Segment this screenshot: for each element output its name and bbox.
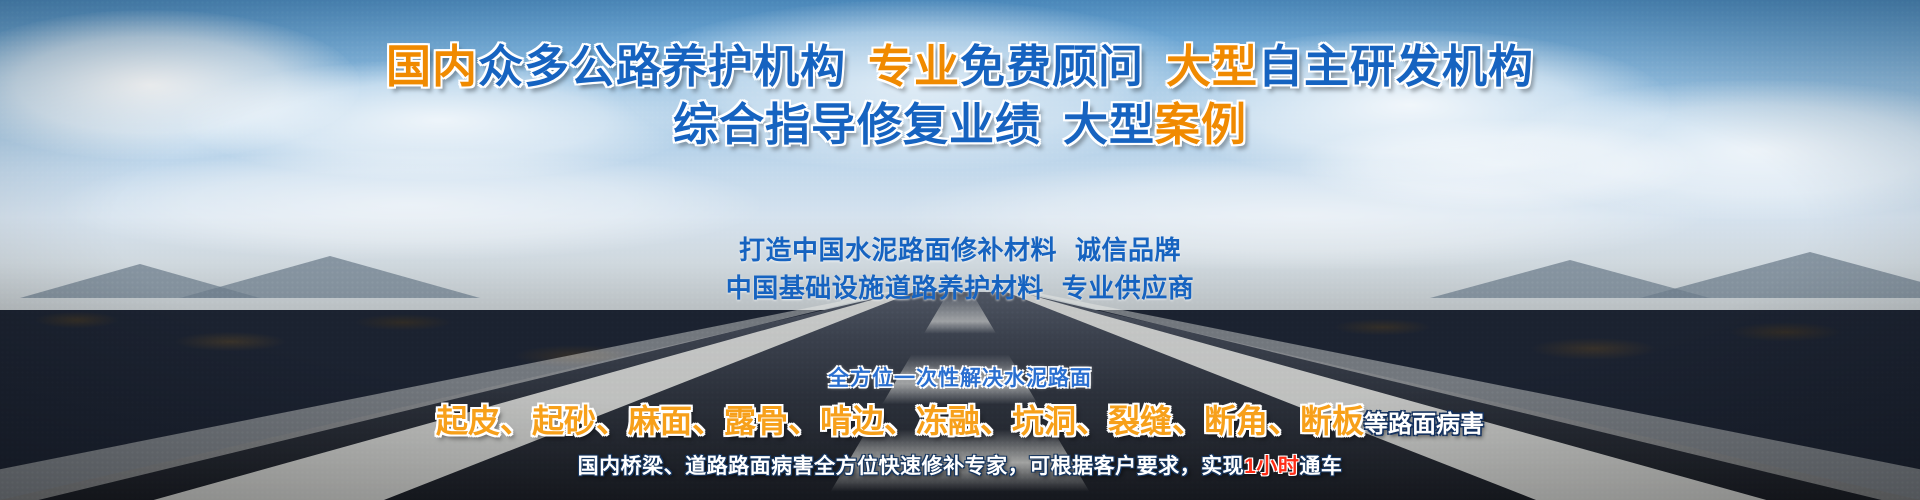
bottom-message-block: 全方位一次性解决水泥路面 起皮、起砂、麻面、露骨、啃边、冻融、坑洞、裂缝、断角、… — [0, 362, 1920, 480]
headline2-segment-daxing: 大型 — [1063, 99, 1155, 150]
headline-line-2: 综合指导修复业绩大型案例 — [0, 102, 1920, 147]
headline1-segment-mianfei: 免费顾问 — [960, 41, 1144, 92]
headline1-segment-zhuanye: 专业 — [868, 41, 960, 92]
subheading2-part-b: 专业供应商 — [1062, 273, 1195, 303]
subheading-block: 打造中国水泥路面修补材料诚信品牌 中国基础设施道路养护材料专业供应商 — [0, 232, 1920, 307]
bottom-line-1: 全方位一次性解决水泥路面 — [0, 362, 1920, 392]
banner-text-content: 国内众多公路养护机构专业免费顾问大型自主研发机构 综合指导修复业绩大型案例 打造… — [0, 0, 1920, 500]
bottom-line-3: 国内桥梁、道路路面病害全方位快速修补专家，可根据客户要求，实现1小时通车 — [0, 450, 1920, 480]
headline-line-1: 国内众多公路养护机构专业免费顾问大型自主研发机构 — [0, 44, 1920, 89]
bottom-line-2: 起皮、起砂、麻面、露骨、啃边、冻融、坑洞、裂缝、断角、断板等路面病害 — [0, 396, 1920, 442]
bottom-line3-prefix: 国内桥梁、道路路面病害全方位快速修补专家，可根据客户要求，实现 — [578, 455, 1245, 478]
subheading-line-2: 中国基础设施道路养护材料专业供应商 — [0, 270, 1920, 308]
promo-banner: 国内众多公路养护机构专业免费顾问大型自主研发机构 综合指导修复业绩大型案例 打造… — [0, 0, 1920, 500]
defect-list-suffix: 等路面病害 — [1364, 411, 1484, 438]
subheading1-part-a: 打造中国水泥路面修补材料 — [739, 235, 1057, 265]
subheading-line-1: 打造中国水泥路面修补材料诚信品牌 — [0, 232, 1920, 270]
headline2-segment-anli: 案例 — [1155, 99, 1247, 150]
defect-list: 起皮、起砂、麻面、露骨、啃边、冻融、坑洞、裂缝、断角、断板 — [436, 403, 1364, 439]
headline2-segment-zonghe: 综合指导修复业绩 — [673, 99, 1041, 150]
headline1-segment-daxing: 大型 — [1166, 41, 1258, 92]
headline1-segment-guonei: 国内 — [386, 41, 478, 92]
headline1-segment-zhongduo: 众多公路养护机构 — [478, 41, 846, 92]
subheading1-part-b: 诚信品牌 — [1075, 235, 1181, 265]
subheading2-part-a: 中国基础设施道路养护材料 — [726, 273, 1044, 303]
headline1-segment-zizhu: 自主研发机构 — [1258, 41, 1534, 92]
bottom-line3-highlight: 1小时 — [1244, 455, 1299, 478]
bottom-line3-suffix: 通车 — [1299, 455, 1342, 478]
